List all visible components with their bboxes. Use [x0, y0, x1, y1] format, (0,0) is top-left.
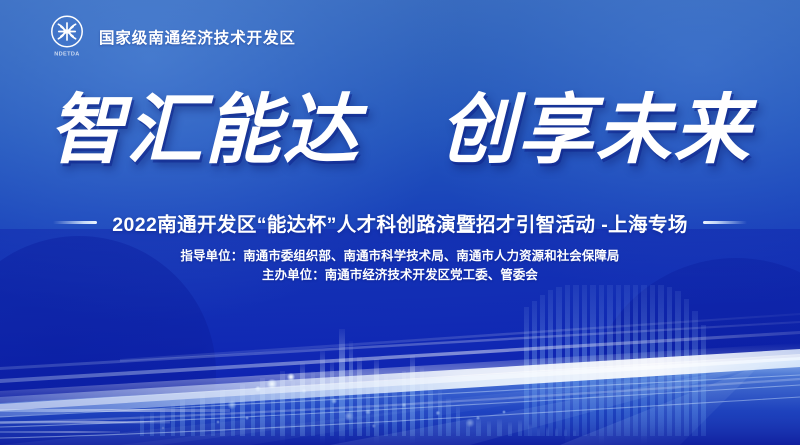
brand-lockup: NDETDA 国家级南通经济技术开发区 — [46, 14, 296, 60]
headline-part-2: 创享未来 — [439, 85, 751, 174]
brand-name: 国家级南通经济技术开发区 — [99, 26, 296, 48]
organizer-line-guidance: 指导单位：南通市委组织部、南通市科学技术局、南通市人力资源和社会保障局 — [0, 247, 800, 266]
headline-part-1: 智汇能达 — [49, 85, 361, 174]
event-banner: NDETDA 国家级南通经济技术开发区 智汇能达 创享未来 2022南通开发区“… — [0, 0, 800, 445]
subtitle-row: 2022南通开发区“能达杯”人才科创路演暨招才引智活动 -上海专场 — [0, 208, 800, 237]
skyline-towers-right — [524, 285, 706, 436]
decorative-circle-icon-right — [586, 258, 800, 445]
horizon-band — [0, 343, 800, 417]
logo-caption: NDETDA — [54, 52, 79, 58]
city-skyline-icon — [0, 285, 800, 445]
light-streak-horizon-icon — [0, 305, 800, 445]
page-title: 智汇能达 创享未来 — [0, 92, 800, 168]
skyline-glow-dots — [161, 373, 506, 430]
left-glow-streaks — [0, 409, 230, 433]
skyline-bars-low-run — [466, 418, 576, 436]
skyline-reflections — [280, 436, 647, 445]
event-subtitle: 2022南通开发区“能达杯”人才科创路演暨招才引智活动 -上海专场 — [112, 208, 688, 237]
organizer-block: 指导单位：南通市委组织部、南通市科学技术局、南通市人力资源和社会保障局 主办单位… — [0, 247, 800, 285]
horizon-streaks — [0, 313, 800, 383]
tapered-rule-icon-right — [703, 221, 747, 224]
organizer-line-host: 主办单位：南通市经济技术开发区党工委、管委会 — [0, 266, 800, 285]
nantong-etdz-emblem-icon: NDETDA — [46, 14, 88, 60]
skyline-bars-left — [140, 329, 460, 436]
reflective-floor — [0, 357, 800, 445]
tapered-rule-icon-left — [53, 221, 97, 224]
